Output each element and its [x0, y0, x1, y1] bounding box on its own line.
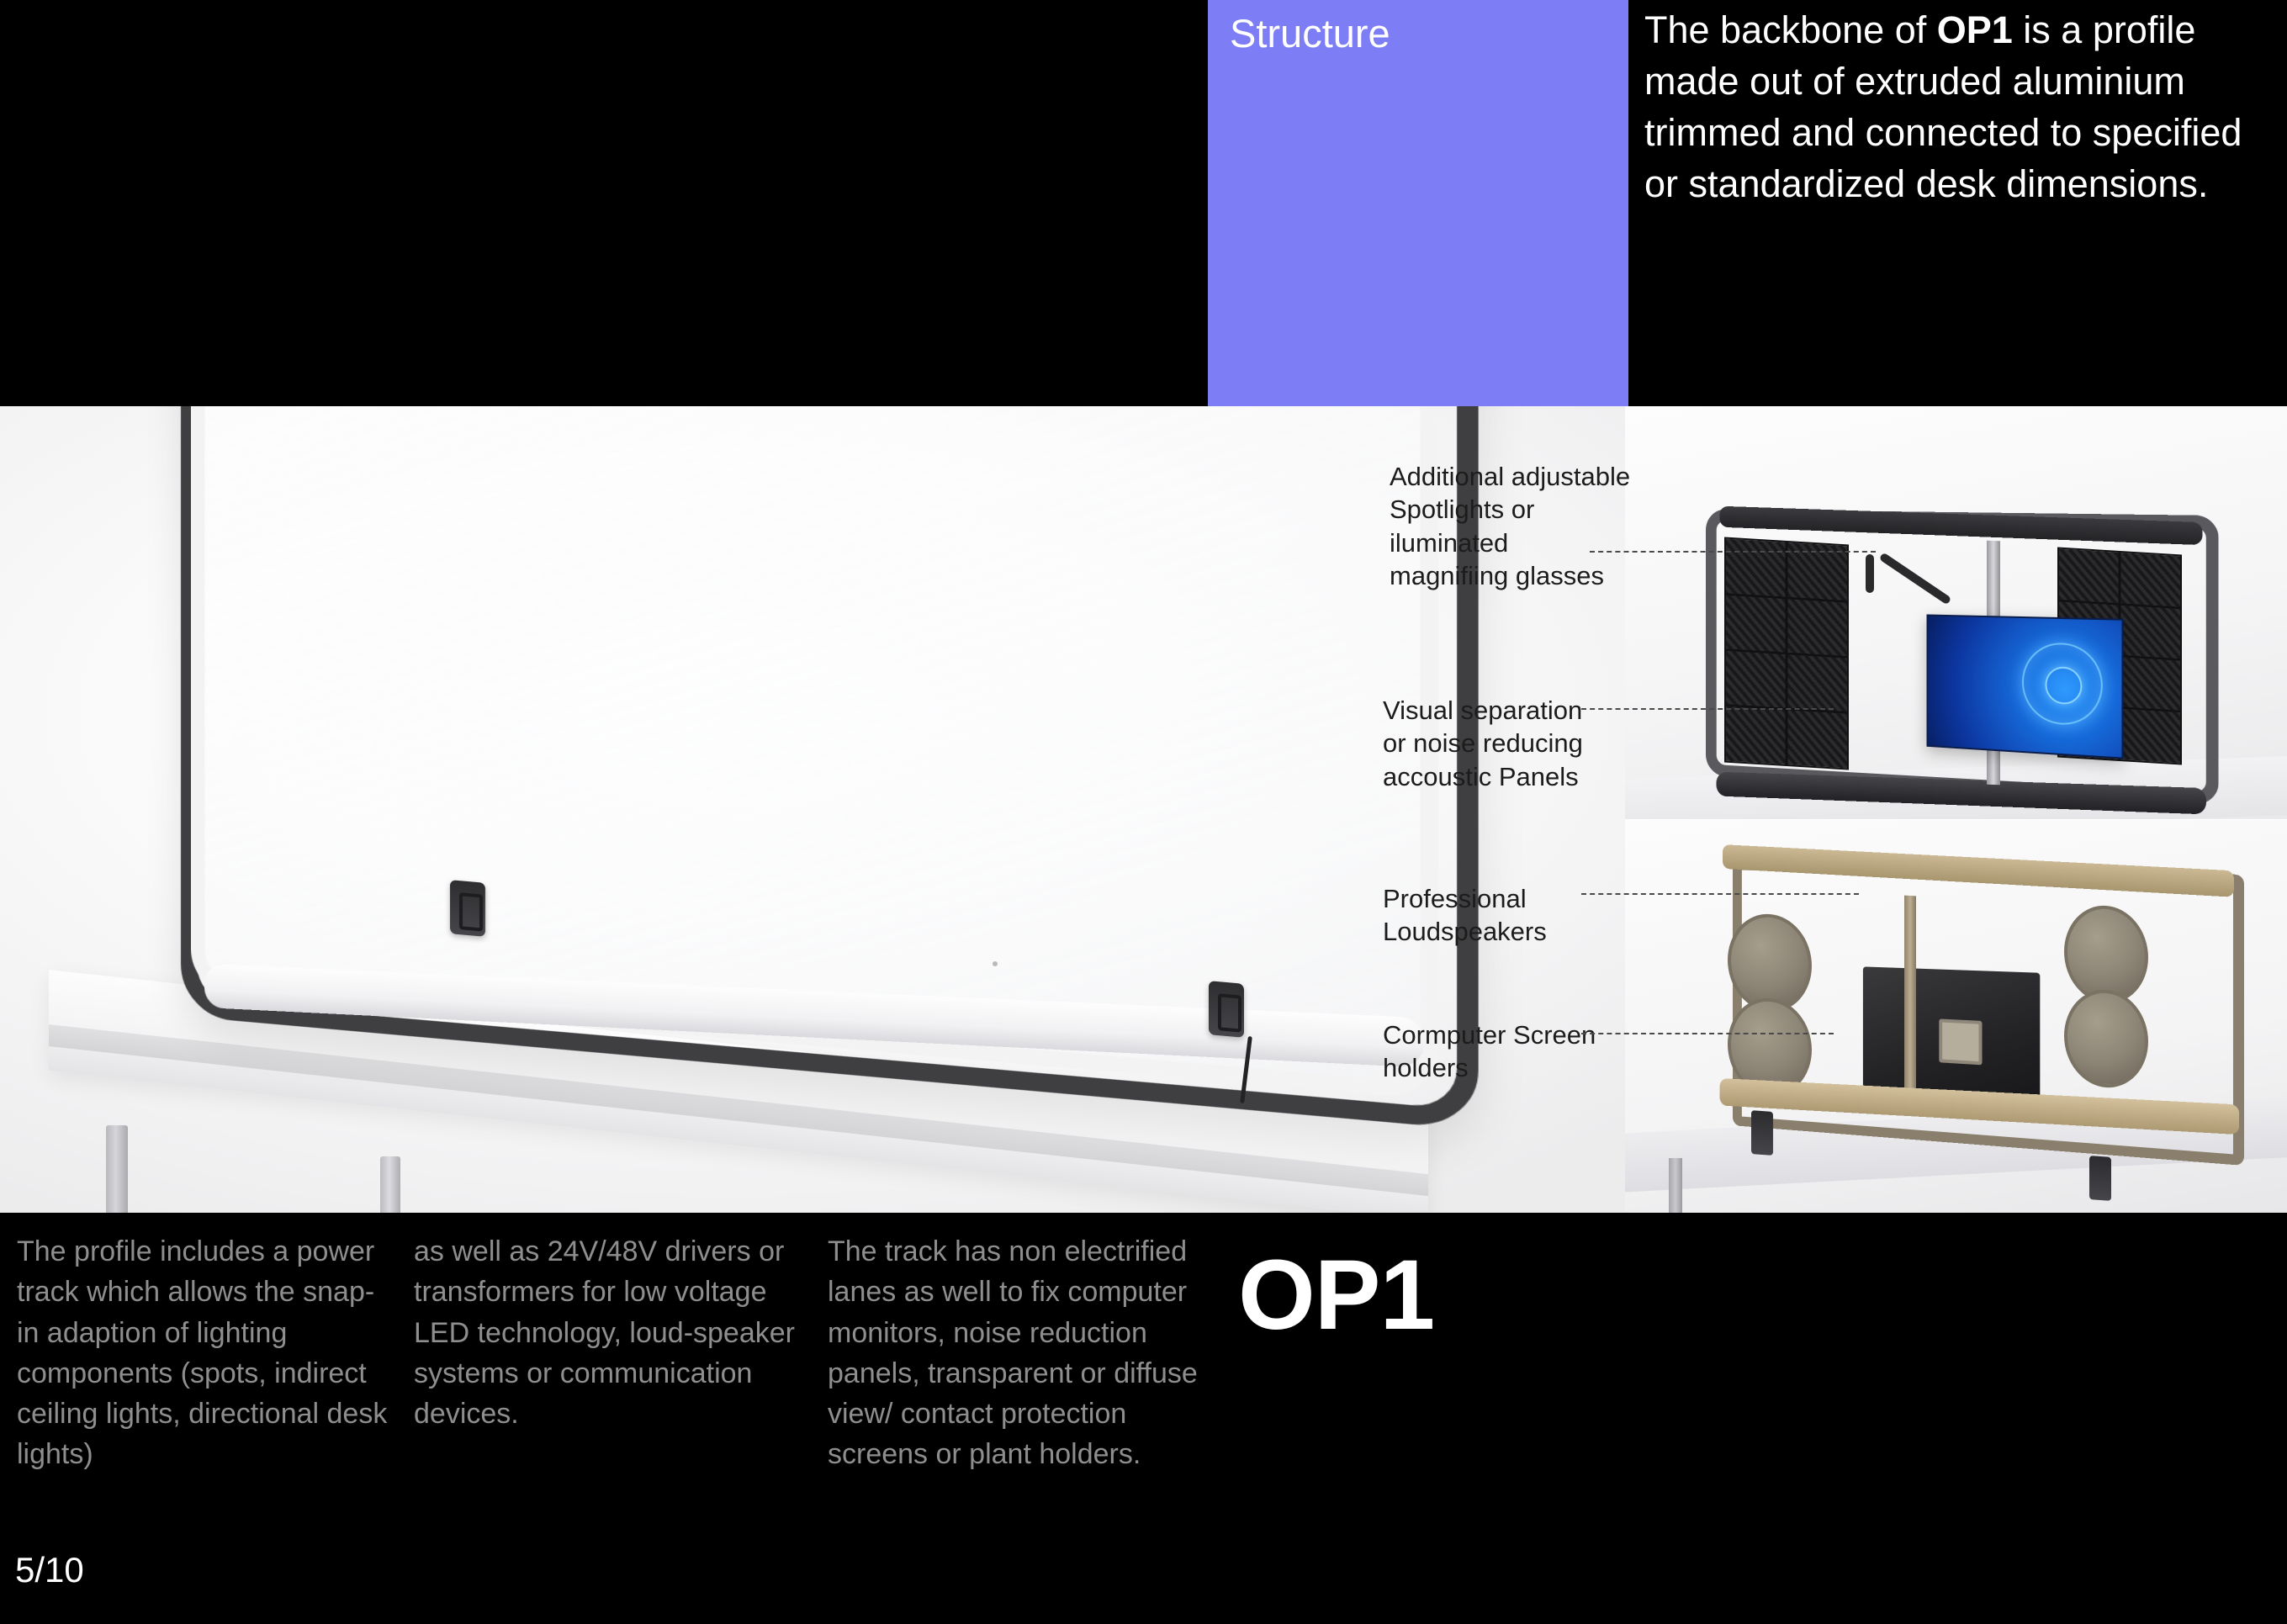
page-indicator: 5/10 [15, 1550, 84, 1590]
body-column-drivers: as well as 24V/48V drivers or transforme… [414, 1231, 801, 1434]
callout-leader-line [1590, 551, 1876, 553]
callout-acoustic-panels: Visual separation or noise reducing acco… [1383, 694, 1583, 793]
desk-clamp [450, 880, 485, 937]
panel-acoustic-render [1625, 406, 2287, 820]
body-column-non-electrified: The track has non electrified lanes as w… [828, 1231, 1231, 1475]
callout-leader-line [1581, 893, 1859, 895]
monitor-rear [1863, 966, 2040, 1106]
hero-product-render [0, 406, 1625, 1213]
panel-loudspeaker-render [1625, 820, 2287, 1213]
brand-logo: OP1 [1238, 1238, 1434, 1352]
headline-brand: OP1 [1937, 8, 2013, 51]
vesa-mount-icon [1939, 1018, 1982, 1065]
desk-leg [106, 1125, 128, 1213]
headline: The backbone of OP1 is a profile made ou… [1644, 5, 2284, 210]
bottom-text-band: The profile includes a power track which… [0, 1213, 2287, 1624]
profile-frame [181, 406, 1346, 1213]
desk-clamp [1751, 1110, 1773, 1156]
presentation-slide: Structure The backbone of OP1 is a profi… [0, 0, 2287, 1624]
headline-prefix: The backbone of [1644, 8, 1937, 51]
callout-screen-holders: Cormputer Screen holders [1383, 1018, 1596, 1085]
panel-desk-leg [1669, 1158, 1682, 1213]
speaker-cone-icon [2064, 987, 2148, 1091]
top-band: Structure The backbone of OP1 is a profi… [0, 0, 2287, 406]
loudspeaker [2064, 903, 2148, 1091]
body-column-power-track: The profile includes a power track which… [17, 1231, 395, 1475]
section-label: Structure [1230, 10, 1390, 56]
callout-leader-line [1581, 1033, 1834, 1034]
callout-leader-line [1581, 708, 1834, 710]
acoustic-panel [1724, 537, 1849, 770]
detail-dot [993, 961, 998, 966]
desk-clamp [1209, 981, 1244, 1038]
section-label-box: Structure [1208, 0, 1628, 406]
callout-loudspeakers: Professional Loudspeakers [1383, 882, 1547, 949]
callout-spotlights: Additional adjustable Spotlights or ilum… [1390, 460, 1630, 592]
desk-clamp [2089, 1156, 2111, 1201]
monitor-post [1904, 896, 1916, 1115]
spotlight-arm-vertical [1866, 554, 1874, 593]
monitor-screen [1926, 614, 2123, 759]
loudspeaker [1728, 912, 1812, 1099]
hud-graphic-icon [2022, 642, 2103, 727]
